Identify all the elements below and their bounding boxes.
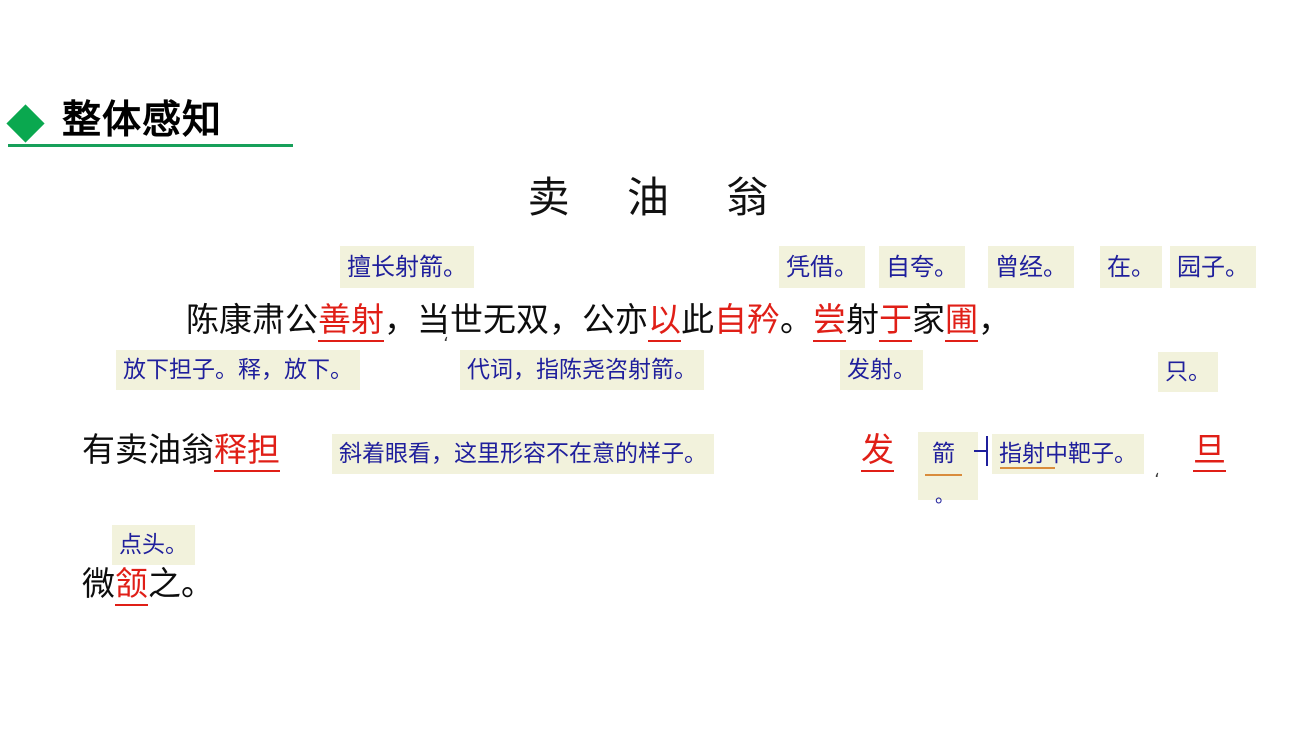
line3-seg1: 微 <box>82 564 115 603</box>
note-bazi-underline <box>1000 466 1055 469</box>
note-cengjing: 曾经。 <box>988 246 1074 288</box>
note-fangxia-danzi: 放下担子。释，放下。 <box>116 350 360 390</box>
line1-keyword-yu: 于 <box>879 300 912 342</box>
line2-keyword-fa: 发 <box>861 430 894 472</box>
note-leader-tick <box>974 450 988 452</box>
line2-keyword-dan: 旦 <box>1193 430 1226 472</box>
note-shanchang-shejian: 擅长射箭。 <box>340 246 474 288</box>
classical-line-1: 陈康肃公善射，当世无双，公亦以此自矜。尝射于家圃， <box>186 298 1011 342</box>
line1-seg3: 此 <box>681 300 714 339</box>
note-pingjie: 凭借。 <box>779 246 865 288</box>
note-zhi: 只。 <box>1158 352 1218 392</box>
line3-seg2: 之。 <box>148 564 214 603</box>
line2-keyword-dan-wrapper: 旦 <box>1193 428 1226 472</box>
note-yuanzi: 园子。 <box>1170 246 1256 288</box>
line1-keyword-pu: 圃 <box>945 300 978 342</box>
diamond-bullet-icon <box>6 104 44 142</box>
line2-seg1: 有卖油翁 <box>82 430 214 469</box>
line1-keyword-yi: 以 <box>648 300 681 342</box>
line1-seg5: 射 <box>846 300 879 339</box>
section-header-underline <box>8 144 293 147</box>
line1-seg4: 。 <box>780 300 813 339</box>
stray-mark-2: ، <box>1154 462 1160 482</box>
line2-keyword-shidan: 释担 <box>214 430 280 472</box>
note-zai: 在。 <box>1100 246 1162 288</box>
line1-keyword-chang: 尝 <box>813 300 846 342</box>
line1-keyword-shanshe: 善射 <box>318 300 384 342</box>
line1-seg6: 家 <box>912 300 945 339</box>
note-xiezhe-yankan: 斜着眼看，这里形容不在意的样子。 <box>332 434 714 474</box>
section-header: 整体感知 <box>8 99 298 149</box>
note-daici: 代词，指陈尧咨射箭。 <box>460 350 704 390</box>
line2-keyword-fa-wrapper: 发 <box>861 428 894 472</box>
lesson-title: 卖 油 翁 <box>0 170 1296 226</box>
section-header-label: 整体感知 <box>62 97 222 145</box>
line3-keyword-han: 颔 <box>115 564 148 606</box>
line1-seg7: ， <box>978 300 1011 339</box>
classical-line-2: 有卖油翁释担 <box>82 428 280 472</box>
line1-seg2: ，当世无双，公亦 <box>384 300 648 339</box>
note-zikua: 自夸。 <box>879 246 965 288</box>
note-jian: 箭 <box>925 434 962 476</box>
note-fashe: 发射。 <box>840 350 923 390</box>
line1-keyword-zijin: 自矜 <box>714 300 780 339</box>
note-diantou: 点头。 <box>112 525 195 565</box>
classical-line-3: 微颔之。 <box>82 562 214 606</box>
stray-mark-1: ، <box>443 326 449 346</box>
note-jian-period: 。 <box>928 476 961 516</box>
line1-seg1: 陈康肃公 <box>186 300 318 339</box>
